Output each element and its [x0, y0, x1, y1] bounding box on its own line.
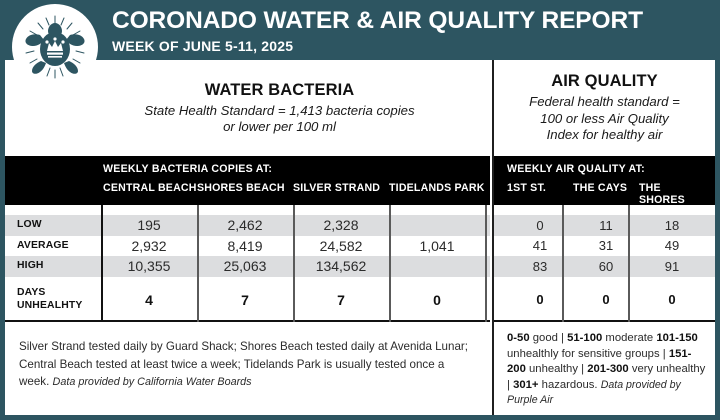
water-rule-4	[485, 205, 487, 322]
water-days-tidelands: 0	[389, 292, 485, 308]
air-col-1st-st: 1ST ST.	[507, 182, 573, 206]
water-high-shores: 25,063	[197, 258, 293, 274]
air-rule-2	[628, 205, 630, 322]
aqi-desc-hazardous: hazardous.	[539, 379, 601, 391]
water-row-label-days: DAYS	[17, 287, 101, 300]
water-row-label-unhealthy: UNHEALHTY	[17, 300, 101, 313]
table-row: AVERAGE 2,932 8,419 24,582 1,041	[5, 236, 490, 257]
header-text-block: CORONADO WATER & AIR QUALITY REPORT WEEK…	[112, 6, 712, 56]
air-col-the-shores: THE SHORES	[639, 182, 705, 206]
page-title: CORONADO WATER & AIR QUALITY REPORT	[112, 6, 712, 35]
page-subtitle: WEEK OF JUNE 5-11, 2025	[112, 36, 712, 56]
water-footnote-source: Data provided by California Water Boards	[53, 376, 252, 388]
water-high-silver: 134,562	[293, 258, 389, 274]
city-logo	[12, 4, 98, 90]
air-high-shores: 91	[639, 259, 705, 274]
water-row-label-low: LOW	[5, 219, 101, 232]
air-standard-line-3: Index for healthy air	[547, 127, 663, 144]
water-high-central: 10,355	[101, 258, 197, 274]
air-spacer-row	[494, 205, 715, 215]
aqi-range-201-300: 201-300	[587, 363, 628, 375]
water-standard-line-2: or lower per 100 ml	[223, 119, 336, 136]
aqi-range-51-100: 51-100	[567, 332, 602, 344]
water-rule-2	[293, 205, 295, 322]
water-low-silver: 2,328	[293, 217, 389, 233]
table-row: LOW 195 2,462 2,328	[5, 215, 490, 236]
air-band-title: WEEKLY AIR QUALITY AT:	[507, 156, 715, 175]
water-rule-1	[197, 205, 199, 322]
table-row: 0 0 0	[494, 277, 715, 323]
air-days-shores: 0	[639, 292, 705, 307]
water-avg-tidelands: 1,041	[389, 238, 485, 254]
aqi-desc-moderate: moderate	[602, 332, 656, 344]
table-row: DAYS UNHEALHTY 4 7 7 0	[5, 277, 490, 323]
water-low-shores: 2,462	[197, 217, 293, 233]
crowned-turtle-icon	[21, 13, 89, 81]
water-row-label-days-unhealthy: DAYS UNHEALHTY	[5, 287, 101, 312]
air-intro: AIR QUALITY Federal health standard = 10…	[494, 60, 715, 156]
water-rule-3	[389, 205, 391, 322]
water-quality-panel: WATER BACTERIA State Health Standard = 1…	[5, 60, 490, 415]
table-row: 83 60 91	[494, 256, 715, 277]
air-standard-line-2: 100 or less Air Quality	[540, 111, 669, 128]
water-standard-line-1: State Health Standard = 1,413 bacteria c…	[144, 103, 414, 120]
aqi-range-0-50: 0-50	[507, 332, 530, 344]
water-avg-central: 2,932	[101, 238, 197, 254]
air-section-title: AIR QUALITY	[551, 72, 658, 91]
water-row-label-high: HIGH	[5, 260, 101, 273]
aqi-range-101-150: 101-150	[656, 332, 697, 344]
air-scale-legend: 0-50 good | 51-100 moderate 101-150 unhe…	[494, 322, 715, 409]
air-column-header-band: WEEKLY AIR QUALITY AT: 1ST ST. THE CAYS …	[494, 156, 715, 205]
air-standard-line-1: Federal health standard =	[529, 94, 680, 111]
air-col-the-cays: THE CAYS	[573, 182, 639, 206]
aqi-desc-unhealthy: unhealthy |	[526, 363, 587, 375]
water-column-labels: CENTRAL BEACH SHORES BEACH SILVER STRAND…	[5, 175, 490, 194]
water-column-header-band: WEEKLY BACTERIA COPIES AT: CENTRAL BEACH…	[5, 156, 490, 205]
water-days-shores: 7	[197, 292, 293, 308]
water-section-title: WATER BACTERIA	[205, 81, 355, 100]
water-col-central-beach: CENTRAL BEACH	[103, 182, 197, 194]
aqi-desc-sensitive: unhealthly for sensitive groups |	[507, 348, 669, 360]
water-band-title: WEEKLY BACTERIA COPIES AT:	[103, 156, 490, 175]
air-data-table: 0 11 18 41 31 49 83 60 91 0 0 0	[494, 205, 715, 322]
report-card: WATER BACTERIA State Health Standard = 1…	[5, 60, 715, 415]
water-days-central: 4	[101, 292, 197, 308]
air-rule-1	[562, 205, 564, 322]
air-low-shores: 18	[639, 218, 705, 233]
table-row: 0 11 18	[494, 215, 715, 236]
water-data-table: LOW 195 2,462 2,328 AVERAGE 2,932 8,419 …	[5, 205, 490, 322]
water-row-label-average: AVERAGE	[5, 240, 101, 253]
water-low-central: 195	[101, 217, 197, 233]
table-row: 41 31 49	[494, 236, 715, 257]
air-quality-panel: AIR QUALITY Federal health standard = 10…	[492, 60, 715, 415]
page-header: CORONADO WATER & AIR QUALITY REPORT WEEK…	[0, 0, 720, 62]
aqi-desc-good: good |	[530, 332, 567, 344]
water-avg-shores: 8,419	[197, 238, 293, 254]
water-footnote: Silver Strand tested daily by Guard Shac…	[5, 322, 490, 392]
water-avg-silver: 24,582	[293, 238, 389, 254]
table-row: HIGH 10,355 25,063 134,562	[5, 256, 490, 277]
air-avg-shores: 49	[639, 238, 705, 253]
aqi-range-301-plus: 301+	[513, 379, 538, 391]
report-page: CORONADO WATER & AIR QUALITY REPORT WEEK…	[0, 0, 720, 420]
water-col-tidelands-park: TIDELANDS PARK	[389, 182, 485, 194]
water-days-silver: 7	[293, 292, 389, 308]
water-rule-0	[101, 205, 103, 322]
water-col-silver-strand: SILVER STRAND	[293, 182, 389, 194]
water-col-shores-beach: SHORES BEACH	[197, 182, 293, 194]
air-column-labels: 1ST ST. THE CAYS THE SHORES	[494, 175, 715, 206]
water-spacer-row	[5, 205, 490, 215]
